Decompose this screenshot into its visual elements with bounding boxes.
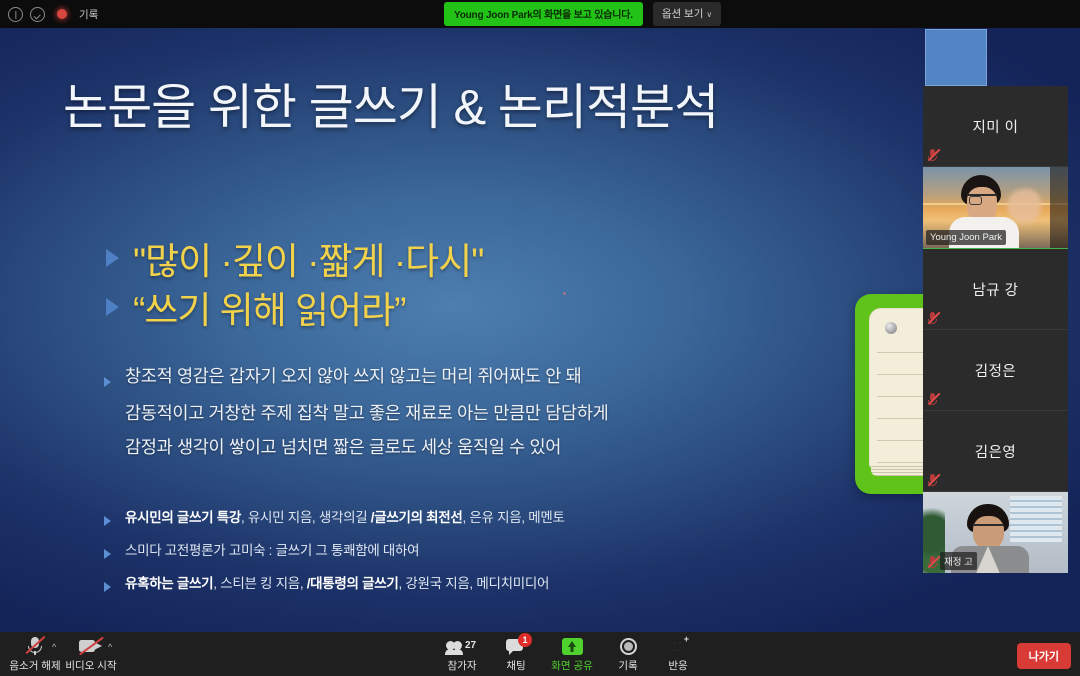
- participant-tile[interactable]: Young Joon Park: [923, 167, 1068, 249]
- slide-body-text: 감동적이고 거창한 주제 집착 말고 좋은 재료로 아는 만큼만 담담하게: [125, 400, 608, 425]
- recording-indicator-icon[interactable]: [57, 9, 67, 19]
- share-screen-icon: [562, 636, 583, 655]
- slide-reference-text: 유혹하는 글쓰기, 스티븐 킹 지음, /대통령의 글쓰기, 강원국 지음, 메…: [125, 572, 549, 592]
- triangle-bullet-icon: [106, 298, 119, 316]
- triangle-bullet-icon: [104, 572, 111, 596]
- participant-tile[interactable]: 김은영: [923, 411, 1068, 492]
- camera-off-icon: [79, 636, 103, 655]
- leave-meeting-button[interactable]: 나가기: [1017, 643, 1071, 669]
- participant-name-badge: Young Joon Park: [926, 230, 1006, 245]
- view-options-label: 옵션 보기: [662, 8, 704, 20]
- slide-reference-row: 유시민의 글쓰기 특강, 유시민 지음, 생각의길 /글쓰기의 최전선, 은유 …: [104, 506, 565, 530]
- slide-reference-row: 스미다 고전평론가 고미숙 : 글쓰기 그 통쾌함에 대하여: [104, 539, 565, 563]
- participant-video-strip[interactable]: 지미 이Young Joon Park남규 강김정은김은영재정 고: [923, 86, 1068, 573]
- participant-name-label: 지미 이: [972, 116, 1018, 137]
- view-options-button[interactable]: 옵션 보기∨: [653, 2, 721, 26]
- video-options-caret-icon[interactable]: ^: [108, 642, 112, 652]
- slide-title: 논문을 위한 글쓰기 & 논리적분석: [63, 68, 718, 139]
- slide-body-row: 감정과 생각이 쌓이고 넘치면 짧은 글로도 세상 움직일 수 있어: [104, 434, 608, 459]
- screen-share-banner: Young Joon Park의 화면을 보고 있습니다.: [444, 2, 643, 26]
- slide-body-text: 창조적 영감은 갑자기 오지 않아 쓰지 않고는 머리 쥐어짜도 안 돼: [125, 363, 581, 388]
- stray-cursor-dot: [563, 292, 566, 295]
- participants-button-label: 참가자: [448, 658, 477, 673]
- chat-button[interactable]: 1 채팅: [487, 636, 545, 673]
- mute-button-label: 음소거 해제: [9, 658, 60, 673]
- meeting-toolbar: 음소거 해제 ^ 비디오 시작 ^ 27 참가자 1: [0, 632, 1080, 676]
- slide-reference-block: 유시민의 글쓰기 특강, 유시민 지음, 생각의길 /글쓰기의 최전선, 은유 …: [104, 506, 565, 605]
- microphone-muted-icon: [927, 148, 939, 162]
- people-icon: 27: [446, 636, 478, 655]
- chat-bubble-icon: 1: [506, 636, 526, 655]
- participant-name-label: 김은영: [975, 441, 1017, 462]
- notepad-hole-icon: [885, 322, 897, 334]
- chat-button-label: 채팅: [506, 658, 525, 673]
- info-icon[interactable]: [8, 7, 23, 22]
- participant-name-label: 남규 강: [972, 279, 1018, 300]
- start-video-button-label: 비디오 시작: [65, 658, 116, 673]
- triangle-bullet-icon: [106, 249, 119, 267]
- share-screen-button-label: 화면 공유: [551, 658, 593, 673]
- slide-body-block: 창조적 영감은 갑자기 오지 않아 쓰지 않고는 머리 쥐어짜도 안 돼 감동적…: [104, 363, 608, 468]
- slide-highlight-text: “쓰기 위해 읽어라”: [133, 280, 405, 334]
- slide-highlight-text: "많이 ·깊이 ·짧게 ·다시": [133, 231, 483, 285]
- slide-highlight-row: “쓰기 위해 읽어라”: [106, 280, 405, 334]
- participant-name-label: 김정은: [975, 360, 1017, 381]
- microphone-muted-icon: [927, 392, 939, 406]
- chevron-down-icon: ∨: [706, 10, 712, 19]
- participant-name-badge: 재정 고: [940, 552, 977, 570]
- meeting-top-bar: 기록 Young Joon Park의 화면을 보고 있습니다. 옵션 보기∨: [0, 0, 1080, 28]
- smiley-reaction-icon: +: [669, 636, 687, 655]
- slide-body-text: 감정과 생각이 쌓이고 넘치면 짧은 글로도 세상 움직일 수 있어: [125, 434, 561, 459]
- recording-label: 기록: [79, 7, 98, 22]
- top-bar-left-controls: 기록: [0, 7, 98, 22]
- microphone-muted-icon: [927, 311, 939, 325]
- participant-tile[interactable]: 김정은: [923, 330, 1068, 411]
- slide-highlight-row: "많이 ·깊이 ·짧게 ·다시": [106, 231, 483, 285]
- triangle-bullet-icon: [104, 363, 111, 391]
- participants-count: 27: [465, 640, 476, 651]
- slide-reference-row: 유혹하는 글쓰기, 스티븐 킹 지음, /대통령의 글쓰기, 강원국 지음, 메…: [104, 572, 565, 596]
- partial-video-tile[interactable]: [925, 29, 987, 86]
- microphone-muted-icon: [26, 636, 44, 655]
- participant-tile[interactable]: 남규 강: [923, 249, 1068, 330]
- slide-reference-text: 스미다 고전평론가 고미숙 : 글쓰기 그 통쾌함에 대하여: [125, 539, 419, 559]
- top-bar-center: Young Joon Park의 화면을 보고 있습니다. 옵션 보기∨: [444, 2, 721, 26]
- triangle-bullet-icon: [104, 506, 111, 530]
- zoom-meeting-window: 기록 Young Joon Park의 화면을 보고 있습니다. 옵션 보기∨ …: [0, 0, 1080, 676]
- microphone-muted-icon: [927, 473, 939, 487]
- record-button-label: 기록: [618, 658, 637, 673]
- slide-body-row: 감동적이고 거창한 주제 집착 말고 좋은 재료로 아는 만큼만 담담하게: [104, 400, 608, 425]
- bullet-spacer: [104, 434, 111, 444]
- participant-tile[interactable]: 지미 이: [923, 86, 1068, 167]
- bullet-spacer: [104, 400, 111, 410]
- shared-screen-slide: 논문을 위한 글쓰기 & 논리적분석 "많이 ·깊이 ·짧게 ·다시" “쓰기 …: [0, 28, 1080, 632]
- share-screen-button[interactable]: 화면 공유: [543, 636, 601, 673]
- encryption-shield-icon[interactable]: [30, 7, 45, 22]
- reactions-button-label: 반응: [668, 658, 687, 673]
- participant-tile[interactable]: 재정 고: [923, 492, 1068, 573]
- microphone-muted-icon: [927, 555, 939, 569]
- participants-button[interactable]: 27 참가자: [433, 636, 491, 673]
- mic-options-caret-icon[interactable]: ^: [52, 642, 56, 652]
- chat-unread-badge: 1: [518, 633, 532, 647]
- record-circle-icon: [620, 636, 637, 655]
- reactions-button[interactable]: + 반응: [649, 636, 707, 673]
- triangle-bullet-icon: [104, 539, 111, 563]
- slide-reference-text: 유시민의 글쓰기 특강, 유시민 지음, 생각의길 /글쓰기의 최전선, 은유 …: [125, 506, 565, 526]
- slide-body-row: 창조적 영감은 갑자기 오지 않아 쓰지 않고는 머리 쥐어짜도 안 돼: [104, 363, 608, 391]
